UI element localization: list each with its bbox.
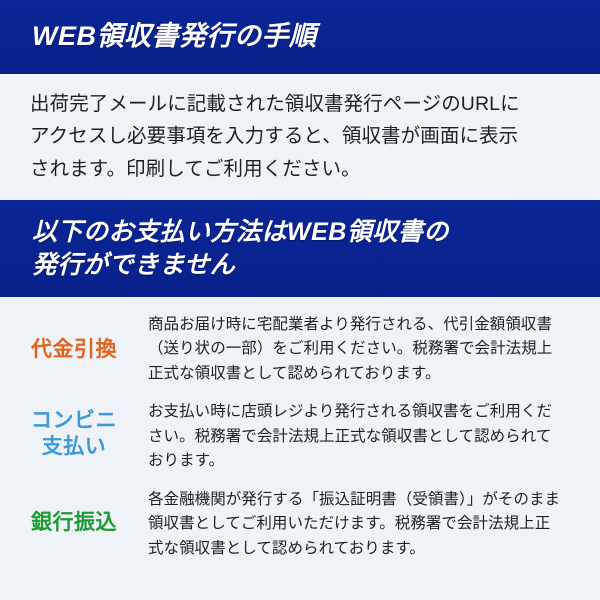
- payment-method-label-bank-transfer: 銀行振込: [0, 488, 148, 536]
- desc-line-3: 正式な領収書として認められております。: [148, 362, 580, 386]
- payment-method-description-convenience-store: お支払い時に店頭レジより発行される領収書をご利用くだ さい。税務署で会計法規上正…: [148, 400, 592, 473]
- intro-line-3: されます。印刷してご利用ください。: [30, 153, 574, 185]
- desc-line-2: 領収書としてご利用いただけます。税務署で会計法規上正: [148, 512, 580, 536]
- intro-section: 出荷完了メールに記載された領収書発行ページのURLに アクセスし必要事項を入力す…: [0, 74, 600, 200]
- desc-line-2: （送り状の一部）をご利用ください。税務署で会計法規上: [148, 337, 580, 361]
- desc-line-1: お支払い時に店頭レジより発行される領収書をご利用くだ: [148, 400, 580, 424]
- payment-method-label-convenience-store: コンビニ 支払い: [0, 400, 148, 459]
- notice-heading: 以下のお支払い方法はWEB領収書の 発行ができません: [32, 216, 449, 282]
- notice-banner: 以下のお支払い方法はWEB領収書の 発行ができません: [0, 200, 600, 297]
- payment-method-description-cod: 商品お届け時に宅配業者より発行される、代引金額領収書 （送り状の一部）をご利用く…: [148, 313, 592, 386]
- payment-methods-list: 代金引換 商品お届け時に宅配業者より発行される、代引金額領収書 （送り状の一部）…: [0, 297, 600, 561]
- label-line-2: 支払い: [0, 434, 148, 460]
- desc-line-3: おります。: [148, 449, 580, 473]
- label-line-1: コンビニ: [0, 408, 148, 434]
- payment-method-label-cod: 代金引換: [0, 313, 148, 363]
- header-banner: WEB領収書発行の手順: [0, 0, 600, 74]
- desc-line-1: 各金融機関が発行する「振込証明書（受領書）」がそのまま: [148, 488, 580, 512]
- intro-line-2: アクセスし必要事項を入力すると、領収書が画面に表示: [30, 120, 574, 152]
- intro-line-1: 出荷完了メールに記載された領収書発行ページのURLに: [30, 88, 574, 120]
- desc-line-3: 式な領収書として認められております。: [148, 537, 580, 561]
- label-line: 代金引換: [0, 337, 148, 363]
- notice-line-1: 以下のお支払い方法はWEB領収書の: [32, 216, 449, 249]
- desc-line-1: 商品お届け時に宅配業者より発行される、代引金額領収書: [148, 313, 580, 337]
- page-title: WEB領収書発行の手順: [32, 20, 317, 53]
- intro-paragraph: 出荷完了メールに記載された領収書発行ページのURLに アクセスし必要事項を入力す…: [30, 88, 574, 185]
- payment-method-row-cod: 代金引換 商品お届け時に宅配業者より発行される、代引金額領収書 （送り状の一部）…: [0, 313, 592, 386]
- desc-line-2: さい。税務署で会計法規上正式な領収書として認められて: [148, 425, 580, 449]
- payment-method-row-convenience-store: コンビニ 支払い お支払い時に店頭レジより発行される領収書をご利用くだ さい。税…: [0, 400, 592, 473]
- label-line: 銀行振込: [0, 510, 148, 536]
- notice-line-2: 発行ができません: [32, 249, 449, 282]
- payment-method-row-bank-transfer: 銀行振込 各金融機関が発行する「振込証明書（受領書）」がそのまま 領収書としてご…: [0, 488, 592, 561]
- payment-method-description-bank-transfer: 各金融機関が発行する「振込証明書（受領書）」がそのまま 領収書としてご利用いただ…: [148, 488, 592, 561]
- receipt-info-graphic: WEB領収書発行の手順 出荷完了メールに記載された領収書発行ページのURLに ア…: [0, 0, 600, 600]
